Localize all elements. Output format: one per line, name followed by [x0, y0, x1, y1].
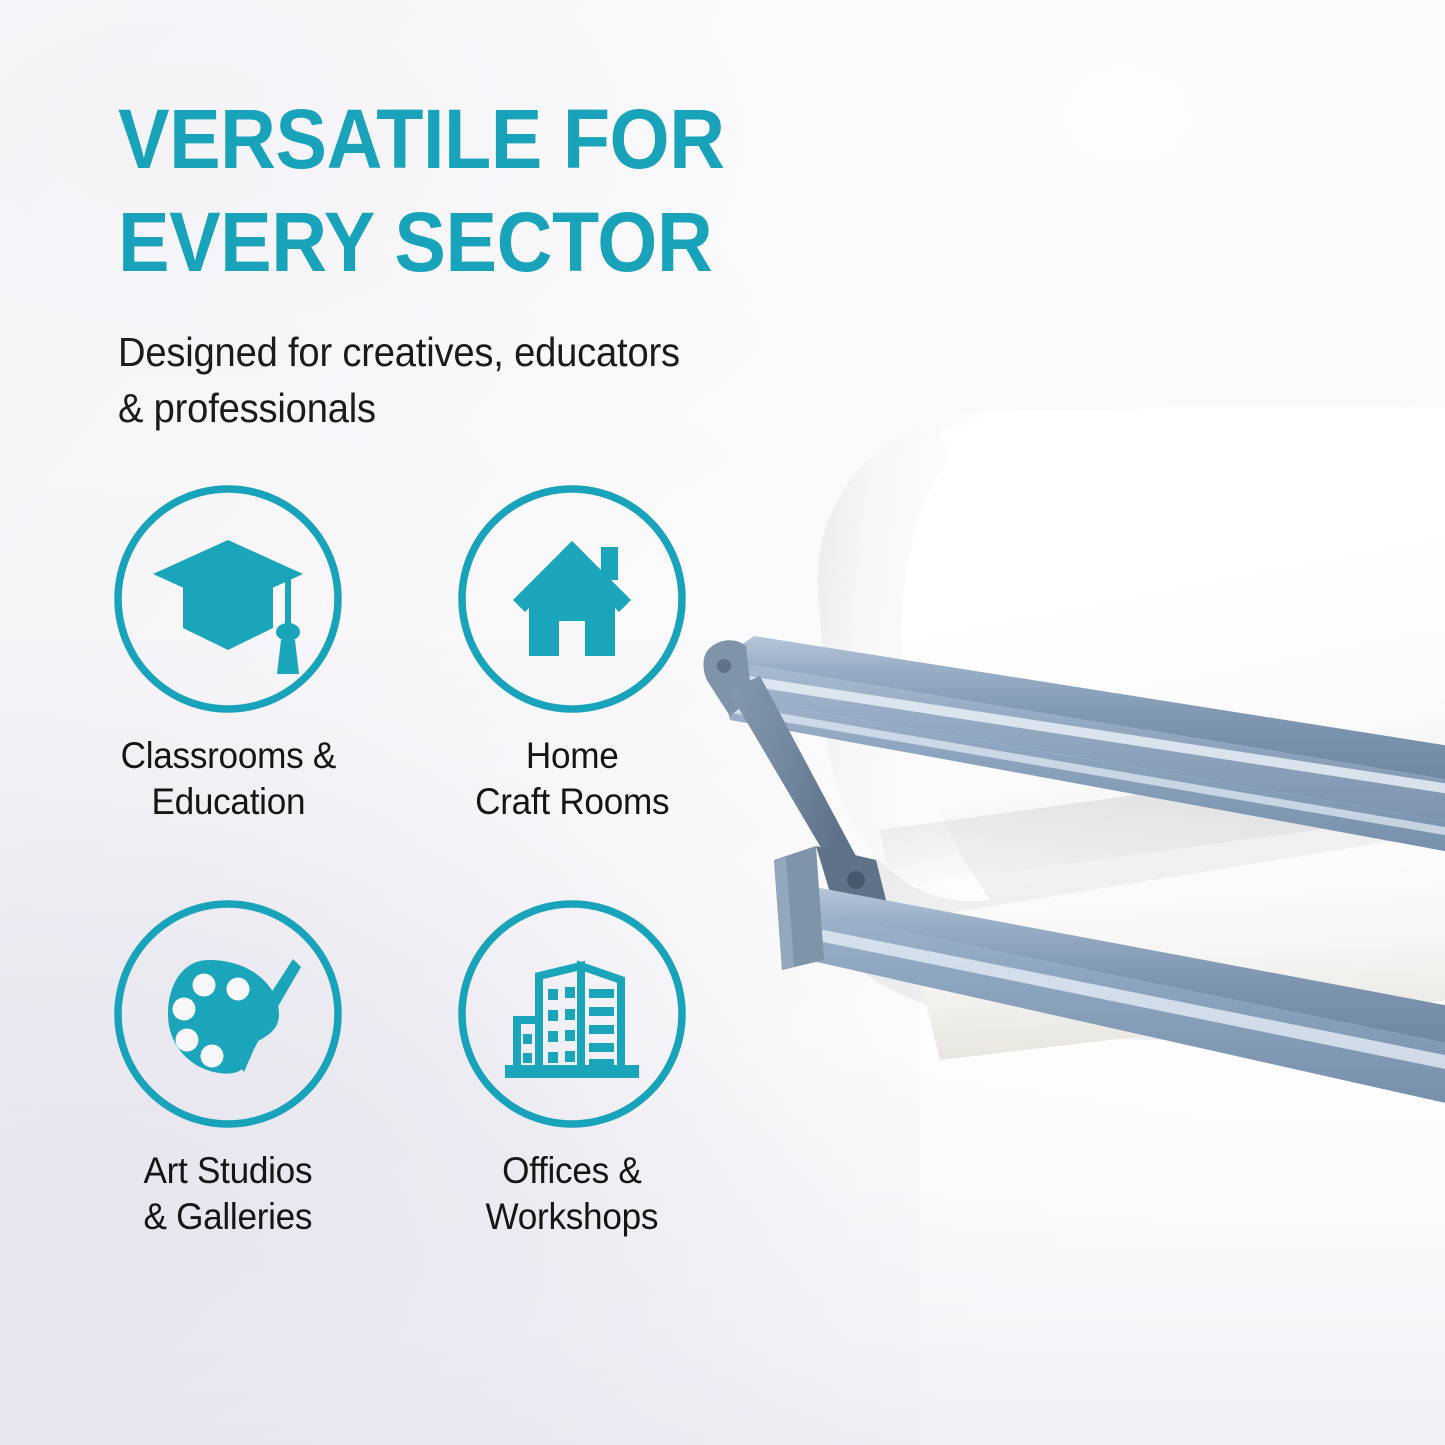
- subheadline-line-1: Designed for creatives, educators: [118, 329, 680, 375]
- office-building-icon: [455, 897, 689, 1131]
- headline-line-1: VERSATILE FOR: [118, 88, 817, 191]
- feature-label-offices-line2: Workshops: [486, 1194, 659, 1240]
- subheadline-line-2: & professionals: [118, 385, 376, 431]
- feature-label-home-craft-line1: Home: [526, 735, 619, 776]
- headline-line-2: EVERY SECTOR: [118, 191, 817, 294]
- house-icon: [455, 482, 689, 716]
- feature-item-art-studios[interactable]: Art Studios & Galleries: [108, 897, 348, 1240]
- headline-block: VERSATILE FOR EVERY SECTOR Designed for …: [118, 88, 878, 436]
- product-photo: [690, 360, 1445, 1120]
- feature-label-home-craft: Home Craft Rooms: [475, 733, 669, 825]
- feature-label-art-studios: Art Studios & Galleries: [144, 1148, 313, 1240]
- feature-row-top: Classrooms & Education: [108, 482, 710, 825]
- feature-label-offices: Offices & Workshops: [486, 1148, 659, 1240]
- hinge-bolt: [847, 871, 865, 889]
- feature-label-classrooms: Classrooms & Education: [120, 733, 335, 825]
- paint-palette-icon: [111, 897, 345, 1131]
- promo-image-canvas: VERSATILE FOR EVERY SECTOR Designed for …: [0, 0, 1445, 1445]
- feature-label-offices-line1: Offices &: [502, 1150, 641, 1191]
- feature-grid: Classrooms & Education: [108, 482, 710, 1240]
- feature-item-offices[interactable]: Offices & Workshops: [452, 897, 692, 1240]
- feature-label-classrooms-line2: Education: [120, 779, 335, 825]
- feature-label-classrooms-line1: Classrooms &: [120, 735, 335, 776]
- feature-item-classrooms[interactable]: Classrooms & Education: [108, 482, 348, 825]
- subheadline-block: Designed for creatives, educators & prof…: [118, 324, 825, 436]
- cutter-bar-pivot-bolt: [717, 659, 731, 673]
- feature-label-home-craft-line2: Craft Rooms: [475, 779, 669, 825]
- feature-label-art-studios-line2: & Galleries: [144, 1194, 313, 1240]
- feature-row-bottom: Art Studios & Galleries: [108, 897, 710, 1240]
- graduation-cap-icon: [111, 482, 345, 716]
- feature-label-art-studios-line1: Art Studios: [144, 1150, 313, 1191]
- feature-item-home-craft[interactable]: Home Craft Rooms: [452, 482, 692, 825]
